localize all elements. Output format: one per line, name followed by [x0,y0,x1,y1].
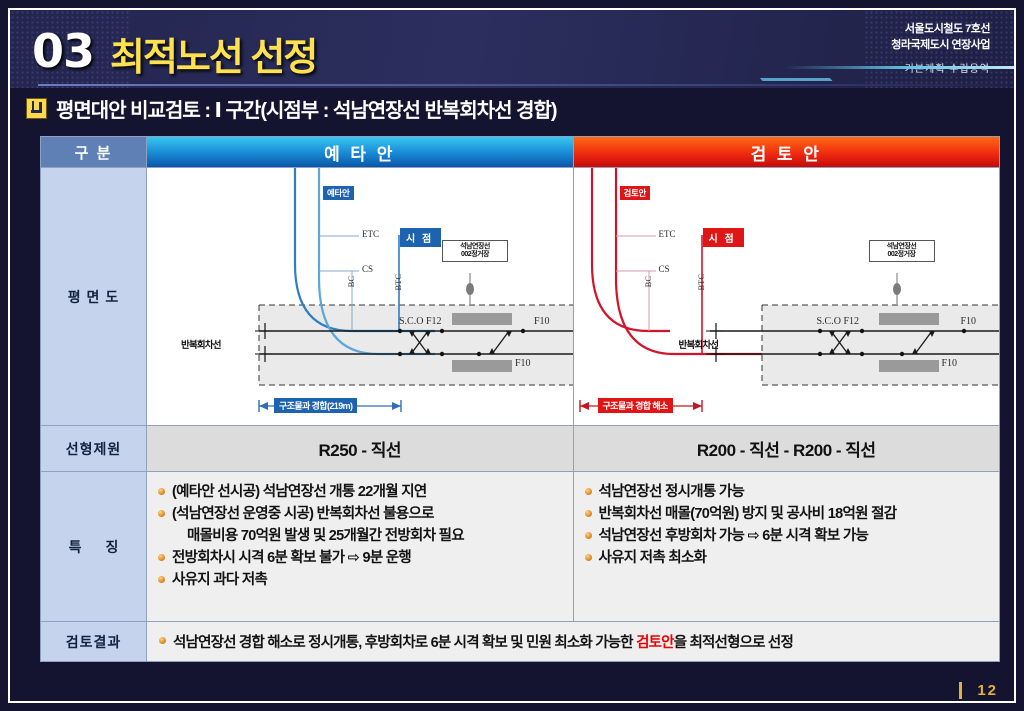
header-swoosh-line [784,66,1014,69]
features-right-cell: 석남연장선 정시개통 가능반복회차선 매몰(70억원) 방지 및 공사비 18억… [574,472,1000,621]
project-identity: 서울도시철도 7호선 청라국제도시 연장사업 기본계획 수립용역 [891,22,990,77]
station-name-line2-right: 002정거장 [873,251,931,259]
plan-diagram-left: 예타안 시 점 ETC CS BC BTC S.C.O F12 F10 F10 … [147,168,574,425]
feature-bullet: 사유지 과다 저촉 [157,569,565,591]
table-header-row: 구 분 예 타 안 검 토 안 [41,137,999,167]
feature-bullet: 전방회차시 시격 6분 확보 불가 ⇨ 9분 운행 [157,547,565,569]
label-f10-lower-right: F10 [942,358,958,369]
row-label-alignment-spec: 선형제원 [41,426,147,471]
label-f10-upper-left: F10 [534,316,550,327]
result-text-pre: 석남연장선 경합 해소로 정시개통, 후방회차로 6분 시격 확보 및 민원 최… [173,635,636,651]
feature-bullet: (예타안 선시공) 석남연장선 개통 22개월 지연 [157,481,565,503]
table-row-result: 검토결과 석남연장선 경합 해소로 정시개통, 후방회차로 6분 시격 확보 및… [41,621,999,661]
slide: 03 최적노선 선정 서울도시철도 7호선 청라국제도시 연장사업 기본계획 수… [0,0,1024,711]
header-underline [38,84,1014,86]
feature-bullet: 석남연장선 후방회차 가능 ⇨ 6분 시격 확보 가능 [584,525,992,547]
down-right-arrow-icon [26,98,47,119]
row-label-result: 검토결과 [41,622,147,661]
feature-bullet: 매몰비용 70억원 발생 및 25개월간 전방회차 필요 [157,525,565,547]
feature-bullet: 반복회차선 매몰(70억원) 방지 및 공사비 18억원 절감 [584,503,992,525]
label-cs-right: CS [659,264,670,274]
result-text-post: 을 최적선형으로 선정 [674,635,793,651]
dimension-tag-left: 구조물과 경합(219m) [274,398,357,413]
header-cell-preliminary-plan: 예 타 안 [147,137,574,167]
diagram-svg-right [574,168,1000,425]
label-sco-f12-right: S.C.O F12 [817,316,860,327]
dimension-tag-right: 구조물과 경합 해소 [598,398,673,413]
header-cell-category: 구 분 [41,137,147,167]
row-label-features: 특 징 [41,472,147,621]
result-text: 석남연장선 경합 해소로 정시개통, 후방회차로 6분 시격 확보 및 민원 최… [159,631,793,652]
features-list-right: 석남연장선 정시개통 가능반복회차선 매몰(70억원) 방지 및 공사비 18억… [584,481,992,569]
station-name-line1-right: 석남연장선 [873,243,931,251]
label-turnback-line-left: 반복회차선 [181,337,221,351]
label-bc-left: BC [346,276,356,287]
label-turnback-line-right: 반복회차선 [679,337,719,351]
table-row-features: 특 징 (예타안 선시공) 석남연장선 개통 22개월 지연(석남연장선 운영중… [41,471,999,621]
callout-plan-tag-left: 예타안 [323,186,354,200]
header-swoosh-accent [745,62,832,81]
section-subtitle: 평면대안 비교검토 : Ⅰ 구간(시점부 : 석남연장선 반복회차선 경합) [12,92,1012,124]
label-sco-f12-left: S.C.O F12 [399,316,442,327]
station-label-box-right: 석남연장선 002정거장 [869,240,935,262]
row-label-plan-view: 평 면 도 [41,168,147,425]
comparison-table: 구 분 예 타 안 검 토 안 평 면 도 [40,136,1000,662]
feature-bullet: (석남연장선 운영중 시공) 반복회차선 불용으로 [157,503,565,525]
result-highlight: 검토안 [636,635,674,651]
station-label-box-left: 석남연장선 002정거장 [442,240,508,262]
label-bc-right: BC [643,276,653,287]
page-title: 최적노선 선정 [110,26,316,81]
spec-value-right: R200 - 직선 - R200 - 직선 [574,426,1000,471]
org-line-2: 청라국제도시 연장사업 [891,38,990,54]
label-btc-left: BTC [393,274,403,291]
diagram-canvas-left: 예타안 시 점 ETC CS BC BTC S.C.O F12 F10 F10 … [147,168,573,425]
label-f10-lower-left: F10 [515,358,531,369]
callout-start-point-left: 시 점 [400,228,441,247]
diagram-canvas-right: 검토안 시 점 ETC CS BC BTC S.C.O F12 F10 F10 … [574,168,1000,425]
feature-bullet: 사유지 저촉 최소화 [584,547,992,569]
page-number: 12 [977,682,998,699]
section-number: 03 [32,24,94,78]
callout-start-point-right: 시 점 [703,228,744,247]
label-cs-left: CS [362,264,373,274]
table-row-plan-view: 평 면 도 [41,167,999,425]
label-etc-right: ETC [659,229,676,239]
table-row-alignment-spec: 선형제원 R250 - 직선 R200 - 직선 - R200 - 직선 [41,425,999,471]
station-name-line2-left: 002정거장 [446,251,504,259]
diagram-svg-left [147,168,574,425]
callout-plan-tag-right: 검토안 [620,186,651,200]
label-etc-left: ETC [362,229,379,239]
features-left-cell: (예타안 선시공) 석남연장선 개통 22개월 지연(석남연장선 운영중 시공)… [147,472,574,621]
spec-value-left: R250 - 직선 [147,426,574,471]
org-line-1: 서울도시철도 7호선 [891,22,990,38]
label-btc-right: BTC [696,274,706,291]
header-cell-review-plan: 검 토 안 [574,137,1000,167]
station-name-line1-left: 석남연장선 [446,243,504,251]
result-cell: 석남연장선 경합 해소로 정시개통, 후방회차로 6분 시격 확보 및 민원 최… [147,622,999,661]
page-number-bar [959,682,962,699]
feature-bullet: 석남연장선 정시개통 가능 [584,481,992,503]
slide-header: 03 최적노선 선정 서울도시철도 7호선 청라국제도시 연장사업 기본계획 수… [10,10,1014,88]
label-f10-upper-right: F10 [961,316,977,327]
subtitle-text: 평면대안 비교검토 : Ⅰ 구간(시점부 : 석남연장선 반복회차선 경합) [56,94,557,123]
plan-diagram-right: 검토안 시 점 ETC CS BC BTC S.C.O F12 F10 F10 … [574,168,1000,425]
features-list-left: (예타안 선시공) 석남연장선 개통 22개월 지연(석남연장선 운영중 시공)… [157,481,565,591]
